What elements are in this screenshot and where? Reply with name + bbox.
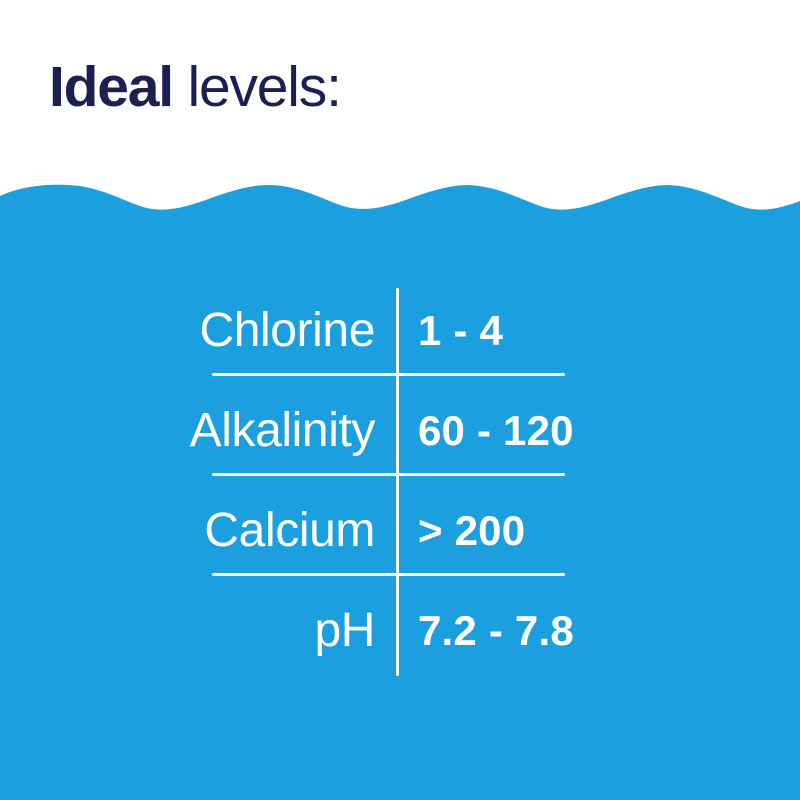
row-value-ph: 7.2 - 7.8 xyxy=(418,581,738,681)
row-value-alkalinity: 60 - 120 xyxy=(418,381,738,481)
ideal-levels-table: Chlorine 1 - 4 Alkalinity 60 - 120 Calci… xyxy=(0,0,800,800)
row-label-chlorine: Chlorine xyxy=(90,281,375,381)
row-value-chlorine: 1 - 4 xyxy=(418,281,738,381)
table-row: Chlorine 1 - 4 xyxy=(0,281,800,381)
table-row: Alkalinity 60 - 120 xyxy=(0,381,800,481)
pool-ideal-levels-infographic: Ideal levels: Chlorine 1 - 4 Alkalinity … xyxy=(0,0,800,800)
row-label-alkalinity: Alkalinity xyxy=(90,381,375,481)
row-label-ph: pH xyxy=(90,581,375,681)
table-row: Calcium > 200 xyxy=(0,481,800,581)
row-label-calcium: Calcium xyxy=(90,481,375,581)
row-value-calcium: > 200 xyxy=(418,481,738,581)
table-row: pH 7.2 - 7.8 xyxy=(0,581,800,681)
